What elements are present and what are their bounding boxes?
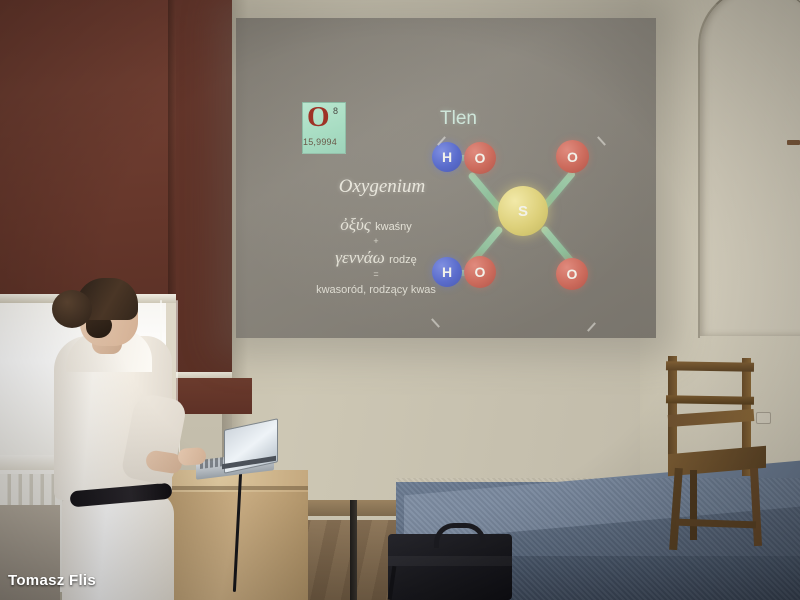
atom-label-s: S <box>518 203 528 220</box>
wall-accent-band <box>176 378 252 414</box>
atom-oxygen-lower-left: O <box>464 256 496 288</box>
window-blind-secondary <box>176 0 232 378</box>
element-atomic-number: 8 <box>333 106 338 116</box>
polish-gloss-1: kwaśny <box>375 221 412 233</box>
laptop-bag-flap <box>388 556 512 566</box>
atom-label-h-lower: H <box>442 264 452 280</box>
presenter-hand-right <box>177 447 206 466</box>
atom-label-o-ur: O <box>567 149 578 165</box>
atom-sulfur-center: S <box>498 186 548 236</box>
chair-leg-back-left <box>690 470 697 540</box>
atom-hydrogen-lower: H <box>432 257 462 287</box>
polish-gloss-2: rodzę <box>389 254 417 266</box>
chair-top-rail <box>666 361 754 372</box>
element-symbol: O <box>307 103 330 132</box>
element-atomic-mass: 15,9994 <box>303 137 337 147</box>
window-blind <box>0 0 176 300</box>
table-leg <box>350 500 357 600</box>
presenter-hair-bun <box>52 290 92 328</box>
atom-label-o-ul: O <box>475 150 486 166</box>
photo-scene: O 8 15,9994 Oxygenium ὀξύς kwaśny + γενν… <box>0 0 800 600</box>
atom-hydrogen-upper: H <box>432 142 462 172</box>
atom-label-o-lr: O <box>567 266 578 282</box>
molecule-title: Tlen <box>440 108 477 130</box>
photographer-watermark: Tomasz Flis <box>8 572 96 589</box>
laptop-bag-handle <box>434 523 486 548</box>
atom-oxygen-lower-right: O <box>556 258 588 290</box>
chair-mid-rail <box>666 395 754 405</box>
atom-label-h-upper: H <box>442 149 452 165</box>
molecule-diagram: S O O O O H H <box>430 130 620 300</box>
greek-word-1: ὀξύς <box>340 215 370 234</box>
wall-outlet <box>756 412 771 424</box>
greek-word-2: γεννάω <box>335 248 384 267</box>
atom-oxygen-upper-right: O <box>556 140 589 173</box>
alcove-edge <box>698 0 800 338</box>
atom-label-o-ll: O <box>475 264 486 280</box>
wall-screw <box>787 140 800 145</box>
atom-oxygen-upper-left: O <box>464 142 496 174</box>
